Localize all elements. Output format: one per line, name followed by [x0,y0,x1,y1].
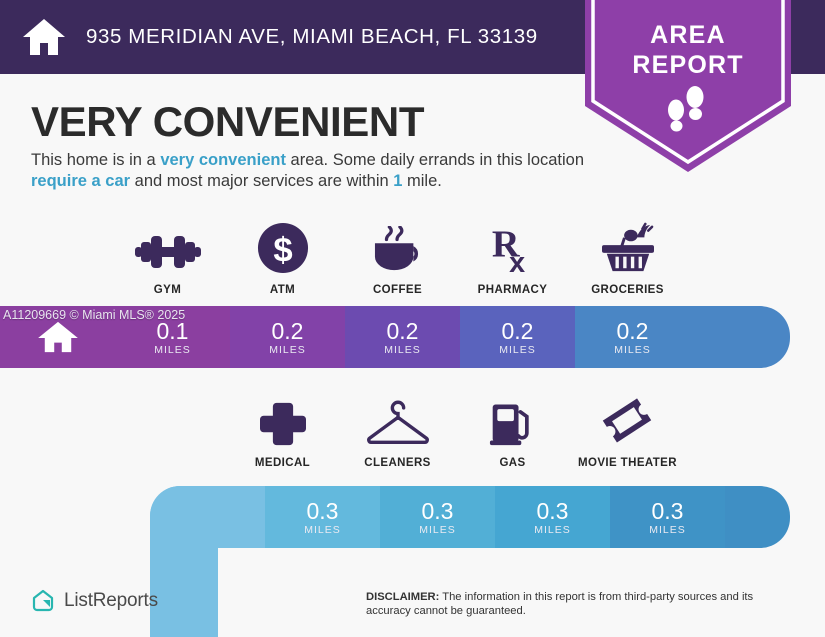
amenity-medical: MEDICAL [225,395,340,469]
hanger-icon [365,395,431,447]
home-icon [22,17,66,57]
summary-part-1: This home is in a [31,151,160,169]
distance-cell-coffee: 0.2 MILES [345,306,460,368]
amenity-atm: $ ATM [225,222,340,296]
amenity-label: GYM [154,284,181,296]
amenity-movie-theater: MOVIE THEATER [570,395,685,469]
distance-cell-pharmacy: 0.2 MILES [460,306,575,368]
amenity-label: MEDICAL [255,457,310,469]
amenity-cleaners: CLEANERS [340,395,455,469]
home-icon [37,320,79,354]
amenity-label: GROCERIES [591,284,664,296]
distance-unit: MILES [534,524,571,536]
medical-cross-icon [260,395,306,447]
amenity-coffee: COFFEE [340,222,455,296]
distance-value: 0.1 [157,319,189,343]
distance-unit: MILES [384,344,421,356]
rx-icon: R x [490,222,536,274]
page-title: VERY CONVENIENT [31,98,424,146]
distance-value: 0.2 [272,319,304,343]
distance-unit: MILES [304,524,341,536]
amenity-gas: GAS [455,395,570,469]
coffee-cup-icon [369,222,427,274]
amenity-label: GAS [499,457,525,469]
distance-unit: MILES [614,344,651,356]
bar-tail-1 [690,306,790,368]
svg-text:x: x [509,247,525,274]
distance-unit: MILES [154,344,191,356]
amenity-icon-row-2: MEDICAL CLEANERS GAS [225,395,685,469]
listreports-wordmark: ListReports [64,590,158,612]
amenity-label: COFFEE [373,284,422,296]
amenity-icon-row-1: GYM $ ATM COFFEE [110,222,685,296]
distance-cell-groceries: 0.2 MILES [575,306,690,368]
distance-value: 0.2 [617,319,649,343]
svg-text:$: $ [273,231,292,269]
summary-text: This home is in a very convenient area. … [31,150,587,191]
listreports-house-icon [30,588,56,614]
summary-highlight-2: require a car [31,172,130,190]
summary-highlight-1: very convenient [160,151,286,169]
amenity-label: PHARMACY [478,284,548,296]
distance-value: 0.3 [652,499,684,523]
disclaimer: DISCLAIMER: The information in this repo… [366,590,796,618]
distance-bar-row-2: 0.3 MILES 0.3 MILES 0.3 MILES 0.3 MILES [150,486,790,548]
distance-cell-cleaners: 0.3 MILES [380,486,495,548]
distance-unit: MILES [649,524,686,536]
bar-lead-2 [150,486,265,548]
bar-tail-2 [725,486,790,548]
amenity-pharmacy: R x PHARMACY [455,222,570,296]
footprints-icon [661,86,717,132]
distance-cell-atm: 0.2 MILES [230,306,345,368]
property-address: 935 MERIDIAN AVE, MIAMI BEACH, FL 33139 [86,25,538,49]
distance-value: 0.2 [502,319,534,343]
distance-value: 0.3 [307,499,339,523]
gas-pump-icon [489,395,537,447]
distance-cell-movie-theater: 0.3 MILES [610,486,725,548]
area-report-badge: AREA REPORT [585,0,791,172]
summary-part-2: area. Some daily errands in this locatio… [286,151,584,169]
distance-unit: MILES [499,344,536,356]
amenity-label: CLEANERS [364,457,430,469]
area-report-page: 935 MERIDIAN AVE, MIAMI BEACH, FL 33139 … [0,0,825,637]
dumbbell-icon [133,222,203,274]
distance-unit: MILES [269,344,306,356]
distance-value: 0.3 [537,499,569,523]
amenity-label: ATM [270,284,295,296]
grocery-basket-icon [598,222,658,274]
distance-unit: MILES [419,524,456,536]
distance-cell-medical: 0.3 MILES [265,486,380,548]
amenity-gym: GYM [110,222,225,296]
distance-cell-gas: 0.3 MILES [495,486,610,548]
distance-value: 0.3 [422,499,454,523]
movie-ticket-icon [602,395,654,447]
amenity-label: MOVIE THEATER [578,457,677,469]
summary-part-4: mile. [402,172,441,190]
distance-value: 0.2 [387,319,419,343]
dollar-circle-icon: $ [257,222,309,274]
listreports-logo[interactable]: ListReports [30,588,158,614]
amenity-groceries: GROCERIES [570,222,685,296]
mls-watermark: A11209669 © Miami MLS® 2025 [3,308,185,322]
summary-part-3: and most major services are within [130,172,393,190]
disclaimer-label: DISCLAIMER: [366,591,439,603]
